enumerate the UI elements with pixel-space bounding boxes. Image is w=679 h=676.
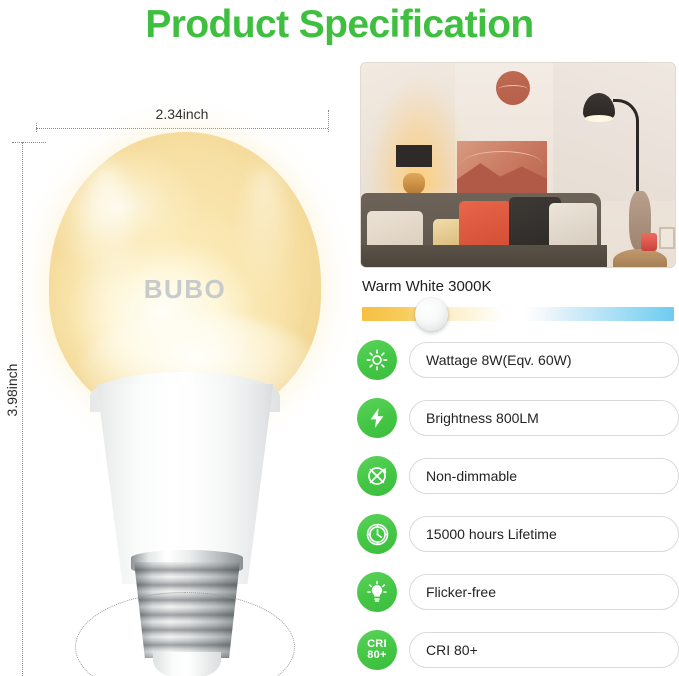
cri-badge-line-2: 80+	[367, 650, 387, 661]
color-temperature-label: Warm White 3000K	[362, 278, 492, 295]
spec-row-flicker: Flicker-free	[357, 570, 679, 614]
base-highlight-ellipse	[75, 592, 295, 676]
color-temperature-slider-knob[interactable]	[415, 298, 448, 331]
room-floor-lamp-light	[585, 115, 613, 122]
room-picture-frame	[659, 227, 675, 249]
width-dimension-line	[36, 128, 328, 129]
sun-icon	[357, 340, 397, 380]
lightning-icon	[357, 398, 397, 438]
room-table-lamp-base	[403, 173, 425, 195]
light-bulb-illustration: BUBO E26 Base	[35, 132, 335, 676]
spec-text-dimmable: Non-dimmable	[409, 458, 679, 494]
spec-text-brightness: Brightness 800LM	[409, 400, 679, 436]
height-dimension-line	[22, 142, 23, 676]
spec-text-wattage: Wattage 8W(Eqv. 60W)	[409, 342, 679, 378]
spec-text-flicker: Flicker-free	[409, 574, 679, 610]
room-side-table	[613, 249, 667, 268]
spec-row-cri: CRI 80+ CRI 80+	[357, 628, 679, 672]
clock-icon	[357, 514, 397, 554]
room-sun-artwork	[496, 71, 530, 105]
spec-row-lifetime: 15000 hours Lifetime	[357, 512, 679, 556]
room-sofa-seat	[361, 245, 607, 268]
product-specification-page: Product Specification 2.34inch 3.98inch …	[0, 0, 679, 676]
color-temperature-slider-track[interactable]	[362, 307, 674, 321]
cri-badge-icon: CRI 80+	[357, 630, 397, 670]
spec-text-cri: CRI 80+	[409, 632, 679, 668]
spec-text-lifetime: 15000 hours Lifetime	[409, 516, 679, 552]
spec-row-wattage: Wattage 8W(Eqv. 60W)	[357, 338, 679, 382]
no-dimmer-icon	[357, 456, 397, 496]
bulb-brand-label: BUBO	[93, 274, 277, 305]
width-dimension-label: 2.34inch	[36, 106, 328, 122]
bulb-dimensions-panel: 2.34inch 3.98inch BUBO E26 Base	[0, 52, 350, 676]
width-dimension-tick-right	[328, 110, 329, 132]
room-landscape-artwork	[457, 141, 547, 193]
room-table-lamp-shade	[396, 145, 432, 167]
room-candle	[641, 233, 657, 251]
height-dimension-label: 3.98inch	[4, 350, 20, 430]
room-floor-lamp-arm	[613, 99, 639, 169]
cri-badge-text: CRI 80+	[367, 639, 387, 661]
specs-panel: Warm White 3000K Wattage 8W(Eqv. 60W)	[355, 0, 679, 676]
spec-row-brightness: Brightness 800LM	[357, 396, 679, 440]
spec-row-dimmable: Non-dimmable	[357, 454, 679, 498]
room-scene-photo	[360, 62, 676, 268]
lightbulb-icon	[357, 572, 397, 612]
